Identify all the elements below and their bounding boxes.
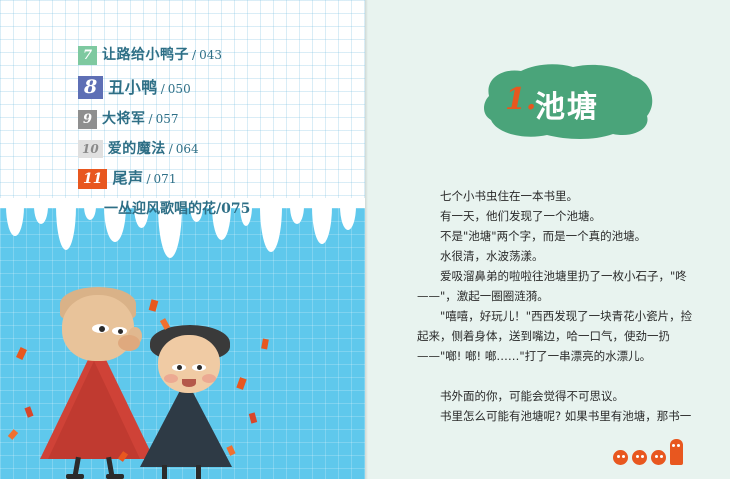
- bookworm-dot-icon: [613, 450, 628, 465]
- table-of-contents: 7 让路给小鸭子 / 043 8 丑小鸭 / 050 9 大将军 / 057 1…: [78, 44, 358, 218]
- toc-separator: /: [149, 112, 153, 126]
- toc-page: 057: [156, 112, 179, 126]
- chapter-number: 1.: [505, 82, 536, 117]
- toc-title: 尾声: [112, 167, 143, 188]
- bookworm-dot-icon: [651, 450, 666, 465]
- confetti-icon: [16, 347, 27, 360]
- chapter-body: 七个小书虫住在一本书里。 有一天，他们发现了一个池塘。 不是"池塘"两个字，而是…: [417, 186, 697, 426]
- toc-title: 丑小鸭: [108, 74, 158, 98]
- body-paragraph: 七个小书虫住在一本书里。: [417, 186, 697, 206]
- toc-page: 071: [154, 172, 177, 186]
- toc-page: 064: [176, 142, 199, 156]
- body-paragraph: 有一天，他们发现了一个池塘。: [417, 206, 697, 226]
- character-one-foot: [66, 474, 84, 479]
- toc-number: 10: [78, 140, 103, 158]
- confetti-icon: [236, 377, 246, 390]
- character-one-pupil: [99, 326, 105, 332]
- confetti-icon: [24, 406, 33, 417]
- character-two-mouth: [182, 379, 196, 387]
- bookworm-dot-icon: [632, 450, 647, 465]
- toc-number: 7: [78, 46, 97, 65]
- left-page: 7 让路给小鸭子 / 043 8 丑小鸭 / 050 9 大将军 / 057 1…: [0, 0, 365, 479]
- confetti-icon: [149, 299, 159, 311]
- toc-item[interactable]: 11 尾声 / 071: [78, 167, 358, 189]
- toc-subtitle[interactable]: 一丛迎风歌唱的花/075: [104, 198, 358, 218]
- confetti-icon: [261, 339, 269, 350]
- chapter-title: 池塘: [535, 82, 599, 126]
- body-paragraph: 水很清，水波荡漾。: [417, 246, 697, 266]
- confetti-icon: [8, 429, 18, 440]
- book-spine-shadow: [365, 0, 368, 479]
- toc-title: 爱的魔法: [108, 138, 166, 158]
- toc-separator: /: [192, 48, 196, 62]
- character-one-nose: [118, 335, 140, 351]
- character-two-pupil: [197, 365, 202, 370]
- character-two-leg: [196, 465, 201, 479]
- toc-title: 让路给小鸭子: [102, 44, 189, 64]
- confetti-icon: [249, 412, 257, 423]
- character-two-cheek: [164, 374, 178, 383]
- character-two-leg: [162, 465, 167, 479]
- paragraph-spacer: [417, 366, 697, 386]
- body-paragraph: 书外面的你，可能会觉得不可思议。: [417, 386, 697, 406]
- bookworm-figure-icon: [670, 439, 683, 465]
- body-paragraph: "嘻嘻，好玩儿！"西西发现了一块青花小瓷片，捡起来，侧着身体，送到嘴边，哈一口气…: [417, 306, 697, 366]
- illustration: [0, 264, 365, 479]
- toc-page: 043: [199, 48, 222, 62]
- toc-page: 050: [168, 82, 191, 96]
- footer-decoration: [613, 439, 683, 465]
- toc-number: 9: [78, 110, 97, 129]
- character-two-cheek: [202, 374, 216, 383]
- body-paragraph: 书里怎么可能有池塘呢? 如果书里有池塘，那书一: [417, 406, 697, 426]
- book-spread: 7 让路给小鸭子 / 043 8 丑小鸭 / 050 9 大将军 / 057 1…: [0, 0, 730, 479]
- toc-item[interactable]: 10 爱的魔法 / 064: [78, 138, 358, 158]
- toc-item[interactable]: 7 让路给小鸭子 / 043: [78, 44, 358, 65]
- toc-title: 大将军: [102, 108, 146, 128]
- character-one-foot: [106, 474, 124, 479]
- right-page: 1. 池塘 七个小书虫住在一本书里。 有一天，他们发现了一个池塘。 不是"池塘"…: [365, 0, 730, 479]
- toc-item[interactable]: 8 丑小鸭 / 050: [78, 74, 358, 99]
- toc-separator: /: [147, 172, 151, 186]
- toc-separator: /: [161, 82, 165, 96]
- character-two-pupil: [177, 365, 182, 370]
- toc-number: 8: [78, 76, 103, 99]
- character-one-pupil: [118, 329, 123, 334]
- body-paragraph: 爱吸溜鼻弟的啦啦往池塘里扔了一枚小石子，"咚——"，激起一圈圈涟漪。: [417, 266, 697, 306]
- red-triangle-body-shade: [48, 361, 140, 459]
- body-paragraph: 不是"池塘"两个字，而是一个真的池塘。: [417, 226, 697, 246]
- toc-separator: /: [169, 142, 173, 156]
- toc-number: 11: [78, 169, 107, 189]
- toc-item[interactable]: 9 大将军 / 057: [78, 108, 358, 129]
